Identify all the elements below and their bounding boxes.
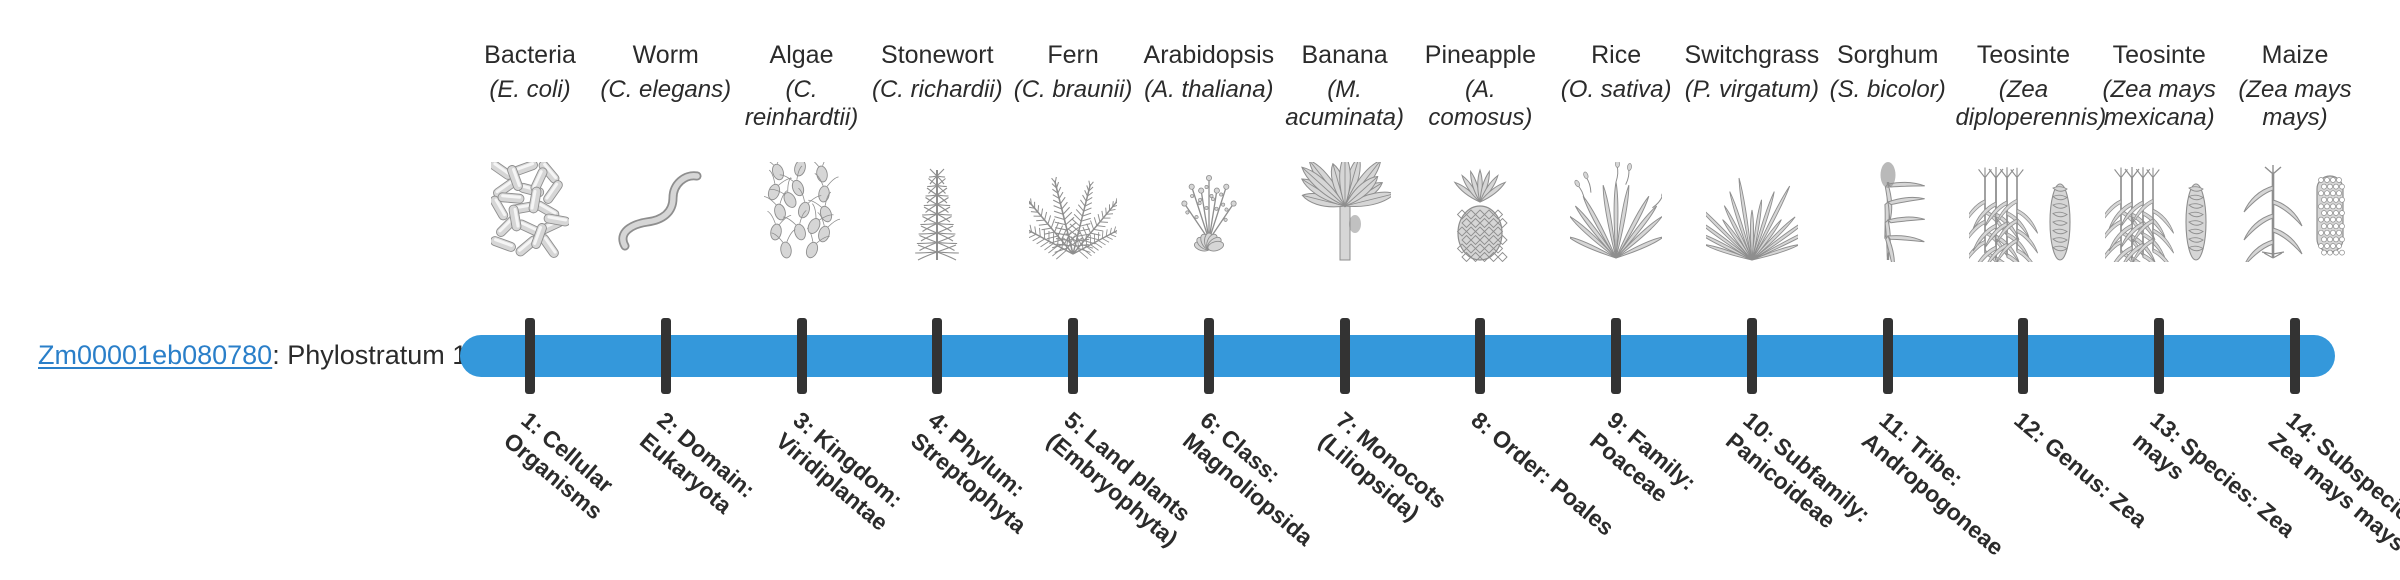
- phylostratum-tick: [1204, 318, 1214, 394]
- species-common-name: Arabidopsis: [1141, 40, 1277, 70]
- species-common-name: Banana: [1277, 40, 1413, 70]
- phylostratum-tick: [525, 318, 535, 394]
- species-scientific-name: (C. elegans): [598, 76, 734, 104]
- species-scientific-name: (O. sativa): [1548, 76, 1684, 104]
- phylostratum-tick: [2018, 318, 2028, 394]
- phylostratum-tick: [2290, 318, 2300, 394]
- phylostratum-figure: Zm00001eb080780: Phylostratum 1 Bacteria…: [0, 0, 2400, 580]
- species-common-name: Sorghum: [1820, 40, 1956, 70]
- species-scientific-name: (C. braunii): [1005, 76, 1141, 104]
- species-common-name: Pineapple: [1412, 40, 1548, 70]
- species-scientific-name: (M. acuminata): [1277, 76, 1413, 132]
- phylostratum-tick: [932, 318, 942, 394]
- rice-icon: [1548, 162, 1684, 272]
- species-common-name: Maize: [2227, 40, 2363, 70]
- algae-icon: [734, 162, 870, 272]
- sorghum-icon: [1820, 162, 1956, 272]
- phylostratum-value: Phylostratum 1: [287, 340, 467, 370]
- fern-icon: [1005, 162, 1141, 272]
- species-common-name: Worm: [598, 40, 734, 70]
- species-scientific-name: (P. virgatum): [1684, 76, 1820, 104]
- switchgrass-icon: [1684, 162, 1820, 272]
- species-scientific-name: (A. thaliana): [1141, 76, 1277, 104]
- species-scientific-name: (C. richardii): [869, 76, 1005, 104]
- bacteria-icon: [462, 162, 598, 272]
- species-common-name: Teosinte: [2091, 40, 2227, 70]
- phylostratum-tick: [797, 318, 807, 394]
- species-common-name: Bacteria: [462, 40, 598, 70]
- banana-icon: [1277, 162, 1413, 272]
- species-scientific-name: (E. coli): [462, 76, 598, 104]
- species-scientific-name: (S. bicolor): [1820, 76, 1956, 104]
- species-common-name: Rice: [1548, 40, 1684, 70]
- species-common-name: Stonewort: [869, 40, 1005, 70]
- gene-label-separator: :: [272, 340, 287, 370]
- species-common-name: Fern: [1005, 40, 1141, 70]
- phylostratum-tick: [1068, 318, 1078, 394]
- worm-icon: [598, 162, 734, 272]
- species-common-name: Algae: [734, 40, 870, 70]
- stonewort-icon: [869, 162, 1005, 272]
- phylostratum-tick: [1883, 318, 1893, 394]
- species-scientific-name: (Zea diploperennis): [1955, 76, 2091, 132]
- pineapple-icon: [1412, 162, 1548, 272]
- phylostratum-tick: [2154, 318, 2164, 394]
- phylostratum-tick: [1340, 318, 1350, 394]
- phylostratum-tick: [1747, 318, 1757, 394]
- phylostratum-tick: [1611, 318, 1621, 394]
- species-common-name: Switchgrass: [1684, 40, 1820, 70]
- species-scientific-name: (Zea mays mexicana): [2091, 76, 2227, 132]
- phylostratum-tick: [1475, 318, 1485, 394]
- species-scientific-name: (Zea mays mays): [2227, 76, 2363, 132]
- phylostratum-tick: [661, 318, 671, 394]
- species-scientific-name: (C. reinhardtii): [734, 76, 870, 132]
- teosinte-icon: [2091, 162, 2227, 272]
- species-scientific-name: (A. comosus): [1412, 76, 1548, 132]
- phylostratum-timeline-bar: [460, 335, 2335, 377]
- teosinte-icon: [1955, 162, 2091, 272]
- gene-phylostratum-label: Zm00001eb080780: Phylostratum 1: [38, 338, 467, 372]
- arabidopsis-icon: [1141, 162, 1277, 272]
- maize-icon: [2227, 162, 2363, 272]
- species-common-name: Teosinte: [1955, 40, 2091, 70]
- gene-id-link[interactable]: Zm00001eb080780: [38, 340, 272, 370]
